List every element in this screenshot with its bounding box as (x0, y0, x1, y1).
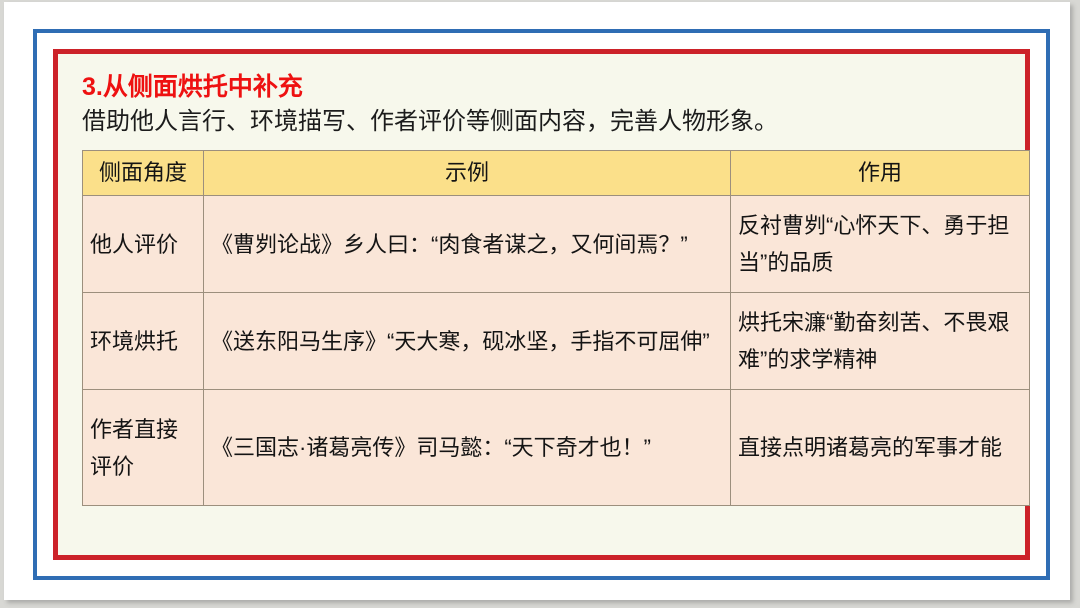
column-header-example: 示例 (204, 151, 731, 196)
cell-example: 《三国志·诸葛亮传》司马懿：“天下奇才也！” (204, 390, 731, 506)
cell-example: 《曹刿论战》乡人曰：“肉食者谋之，又何间焉？” (204, 196, 731, 293)
table-body: 他人评价 《曹刿论战》乡人曰：“肉食者谋之，又何间焉？” 反衬曹刿“心怀天下、勇… (83, 196, 1030, 506)
table-header-row: 侧面角度 示例 作用 (83, 151, 1030, 196)
slide-page: 3.从侧面烘托中补充 借助他人言行、环境描写、作者评价等侧面内容，完善人物形象。… (4, 2, 1070, 600)
side-angle-table: 侧面角度 示例 作用 他人评价 《曹刿论战》乡人曰：“肉食者谋之，又何间焉？” … (82, 150, 1030, 506)
table-row: 环境烘托 《送东阳马生序》“天大寒，砚冰坚，手指不可屈伸” 烘托宋濂“勤奋刻苦、… (83, 293, 1030, 390)
slide-content: 3.从侧面烘托中补充 借助他人言行、环境描写、作者评价等侧面内容，完善人物形象。… (82, 72, 1003, 543)
column-header-angle: 侧面角度 (83, 151, 204, 196)
table-row: 作者直接评价 《三国志·诸葛亮传》司马懿：“天下奇才也！” 直接点明诸葛亮的军事… (83, 390, 1030, 506)
cell-angle: 他人评价 (83, 196, 204, 293)
table-row: 他人评价 《曹刿论战》乡人曰：“肉食者谋之，又何间焉？” 反衬曹刿“心怀天下、勇… (83, 196, 1030, 293)
table-header: 侧面角度 示例 作用 (83, 151, 1030, 196)
column-header-effect: 作用 (731, 151, 1030, 196)
cell-effect: 烘托宋濂“勤奋刻苦、不畏艰难”的求学精神 (731, 293, 1030, 390)
cell-effect: 直接点明诸葛亮的军事才能 (731, 390, 1030, 506)
cell-angle: 作者直接评价 (83, 390, 204, 506)
cell-effect: 反衬曹刿“心怀天下、勇于担当”的品质 (731, 196, 1030, 293)
red-border-frame: 3.从侧面烘托中补充 借助他人言行、环境描写、作者评价等侧面内容，完善人物形象。… (53, 49, 1030, 560)
slide-canvas: 3.从侧面烘托中补充 借助他人言行、环境描写、作者评价等侧面内容，完善人物形象。… (0, 0, 1080, 608)
cell-angle: 环境烘托 (83, 293, 204, 390)
section-heading: 3.从侧面烘托中补充 (82, 72, 1003, 102)
cell-example: 《送东阳马生序》“天大寒，砚冰坚，手指不可屈伸” (204, 293, 731, 390)
blue-border-frame: 3.从侧面烘托中补充 借助他人言行、环境描写、作者评价等侧面内容，完善人物形象。… (33, 29, 1050, 580)
section-subheading: 借助他人言行、环境描写、作者评价等侧面内容，完善人物形象。 (82, 106, 1003, 138)
